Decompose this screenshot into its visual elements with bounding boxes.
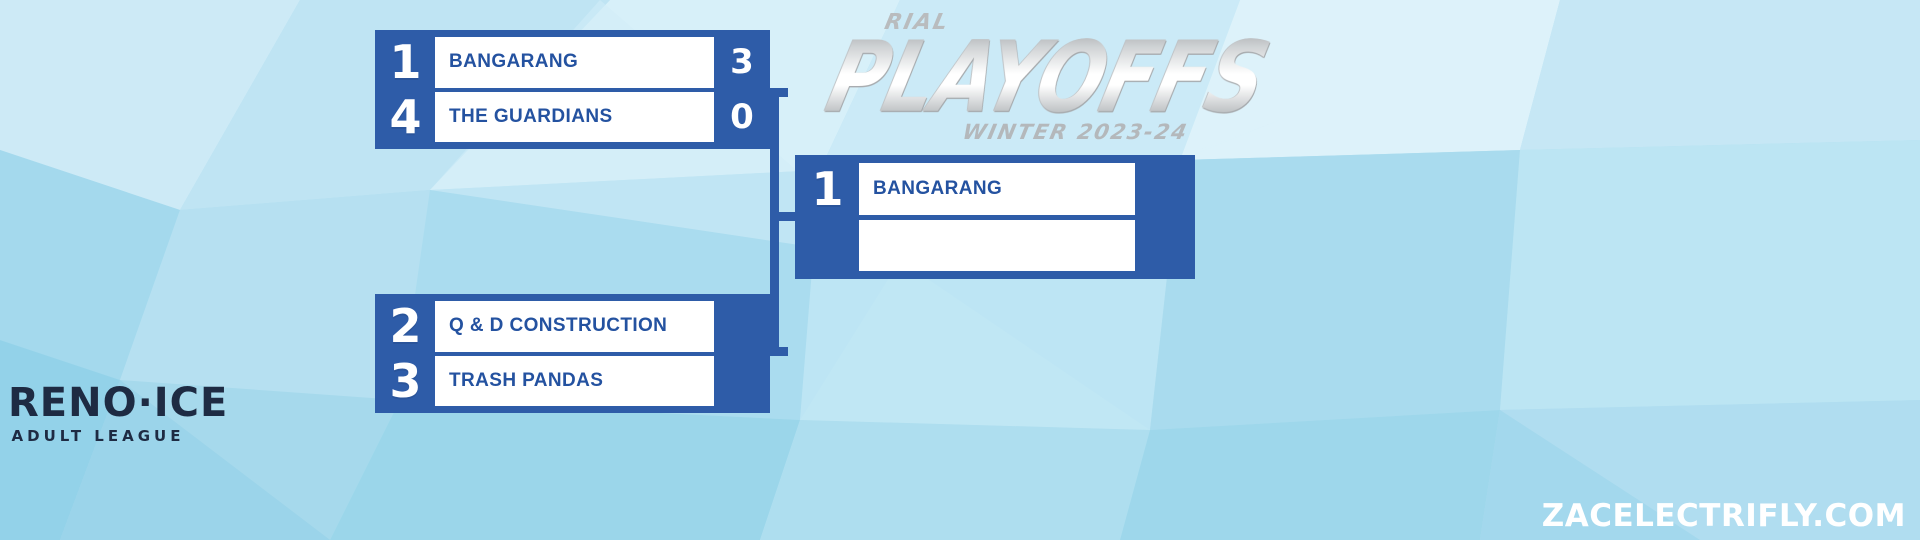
semifinal-1-match[interactable]: 1 BANGARANG 3 4 THE GUARDIANS 0 [375,30,770,149]
table-row[interactable]: 3 TRASH PANDAS [375,356,770,407]
team-name: Q & D CONSTRUCTION [435,301,714,352]
seed-number: 1 [795,163,859,215]
team-name: THE GUARDIANS [435,92,714,143]
connector-bottom-horizontal [770,347,788,356]
seed-number: 1 [375,37,435,88]
adult-league-text: ADULT LEAGUE [8,427,188,445]
team-name: BANGARANG [435,37,714,88]
semifinal-2-match[interactable]: 2 Q & D CONSTRUCTION 3 TRASH PANDAS [375,294,770,413]
team-name [859,220,1135,271]
reno-ice-wordmark: RENO·ICE [8,383,188,423]
team-score [714,356,770,407]
team-name: TRASH PANDAS [435,356,714,407]
site-watermark: ZACELECTRIFLY.COM [1542,498,1906,534]
seed-number: 4 [375,92,435,143]
table-row[interactable]: 1 BANGARANG [795,163,1195,215]
score-placeholder [1135,220,1195,271]
team-score: 0 [714,92,770,143]
team-name: BANGARANG [859,163,1135,215]
championship-match[interactable]: 1 BANGARANG [795,155,1195,279]
table-row[interactable] [795,220,1195,271]
table-row[interactable]: 1 BANGARANG 3 [375,37,770,88]
seed-number [795,220,859,271]
team-score: 3 [714,37,770,88]
connector-vertical [770,88,779,356]
score-placeholder [1135,163,1195,215]
reno-ice-logo: RENO·ICE ADULT LEAGUE [8,383,188,463]
table-row[interactable]: 2 Q & D CONSTRUCTION [375,301,770,352]
table-row[interactable]: 4 THE GUARDIANS 0 [375,92,770,143]
team-score [714,301,770,352]
seed-number: 3 [375,356,435,407]
seed-number: 2 [375,301,435,352]
